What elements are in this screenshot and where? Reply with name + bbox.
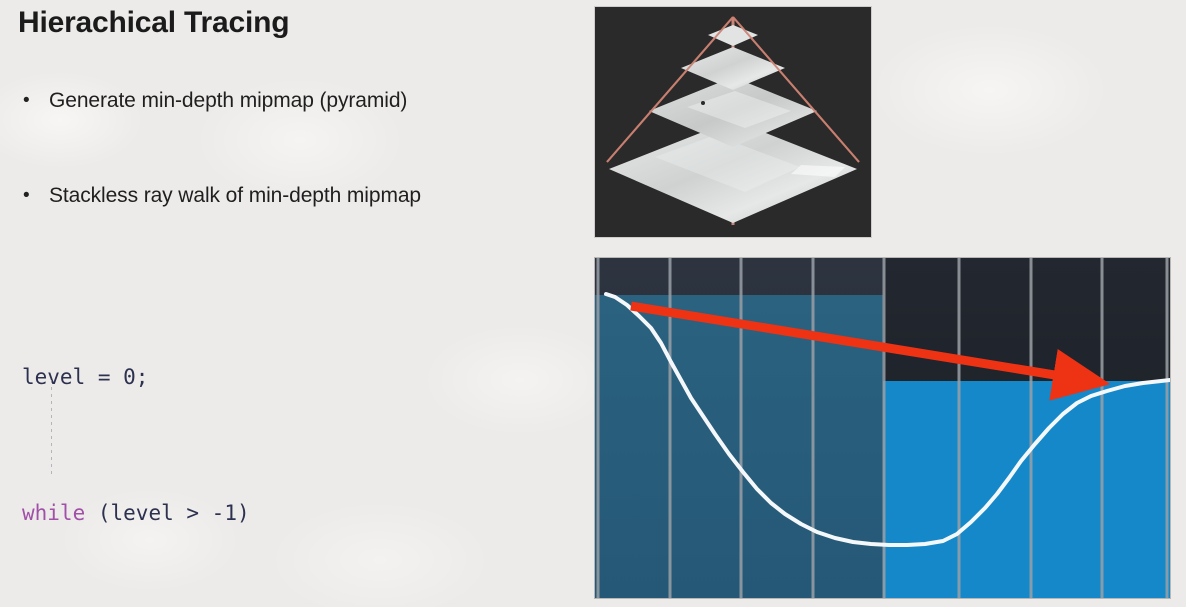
- bullet-item-generate-mipmap: • Generate min-depth mipmap (pyramid): [18, 88, 407, 114]
- code-token-identifier: level: [111, 501, 174, 525]
- depth-svg: [595, 258, 1170, 598]
- pyramid-mipmap-figure: [594, 6, 872, 238]
- min-depth-cell-right: [883, 381, 1170, 598]
- code-token-number: 0;: [123, 365, 148, 389]
- code-line-1: while (level > -1): [22, 496, 414, 530]
- code-indent-guide: [51, 380, 52, 478]
- code-token-paren: (: [85, 501, 110, 525]
- pyramid-sample-dot: [701, 101, 705, 105]
- code-token-number: -1): [212, 501, 250, 525]
- bullet-marker-icon: •: [18, 88, 49, 114]
- code-token-operator: >: [174, 501, 212, 525]
- code-token-identifier: level: [22, 365, 85, 389]
- min-depth-walk-figure: [594, 257, 1171, 599]
- pyramid-svg: [595, 7, 871, 237]
- bullet-marker-icon: •: [18, 183, 49, 209]
- bullet-text: Stackless ray walk of min-depth mipmap: [49, 183, 421, 209]
- bullet-text: Generate min-depth mipmap (pyramid): [49, 88, 407, 114]
- code-line-0: level = 0;: [22, 360, 414, 394]
- code-token-keyword-while: while: [22, 501, 85, 525]
- code-token-assign: =: [85, 365, 123, 389]
- page-title: Hierachical Tracing: [18, 6, 289, 40]
- code-block: level = 0; while (level > -1) { stepCurr…: [22, 292, 414, 607]
- slide-canvas: Hierachical Tracing • Generate min-depth…: [0, 0, 1186, 607]
- bullet-item-stackless-walk: • Stackless ray walk of min-depth mipmap: [18, 183, 421, 209]
